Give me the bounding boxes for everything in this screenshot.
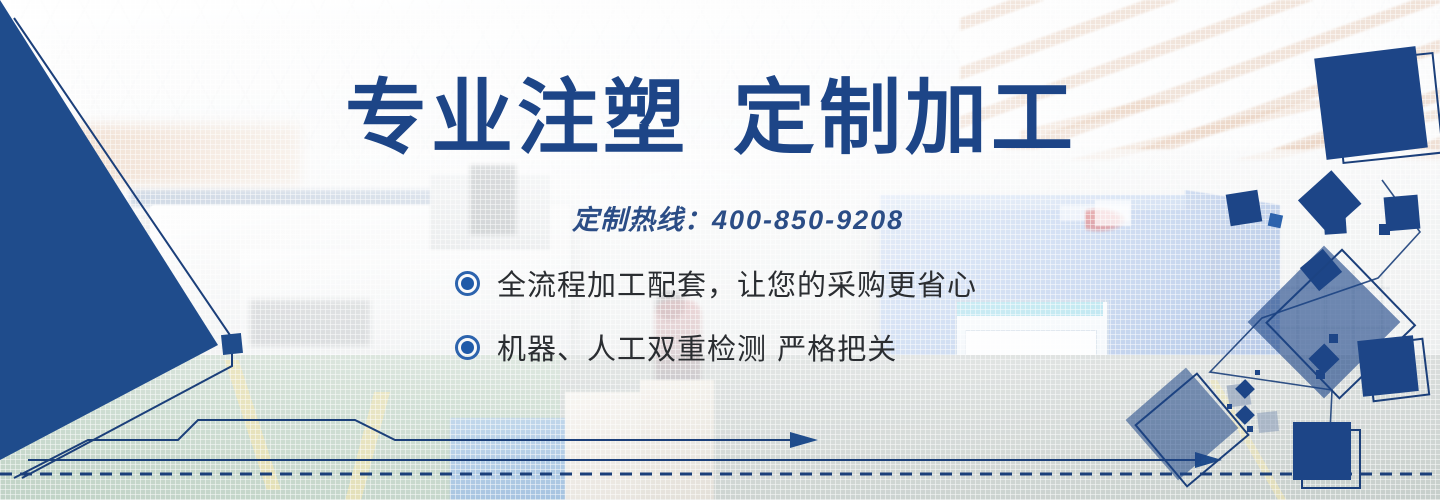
page-title: 专业注塑定制加工 [345, 78, 1077, 160]
list-item-label: 机器、人工双重检测 严格把关 [497, 326, 897, 368]
promo-banner: 专业注塑定制加工 定制热线：400-850-9208 全流程加工配套，让您的采购… [0, 0, 1440, 500]
hotline-line: 定制热线：400-850-9208 [572, 198, 904, 237]
radio-dot-icon [455, 335, 480, 360]
radio-dot-icon [455, 271, 480, 296]
list-item-label: 全流程加工配套，让您的采购更省心 [497, 262, 977, 304]
list-item: 全流程加工配套，让您的采购更省心 [455, 262, 977, 304]
list-item: 机器、人工双重检测 严格把关 [455, 326, 977, 368]
hotline-label: 定制热线： [572, 205, 712, 235]
headline-right: 定制加工 [733, 73, 1077, 164]
feature-list: 全流程加工配套，让您的采购更省心 机器、人工双重检测 严格把关 [455, 262, 977, 390]
hotline-number: 400-850-9208 [712, 205, 904, 235]
content-layer: 专业注塑定制加工 定制热线：400-850-9208 全流程加工配套，让您的采购… [0, 0, 1440, 500]
headline-left: 专业注塑 [345, 73, 689, 164]
